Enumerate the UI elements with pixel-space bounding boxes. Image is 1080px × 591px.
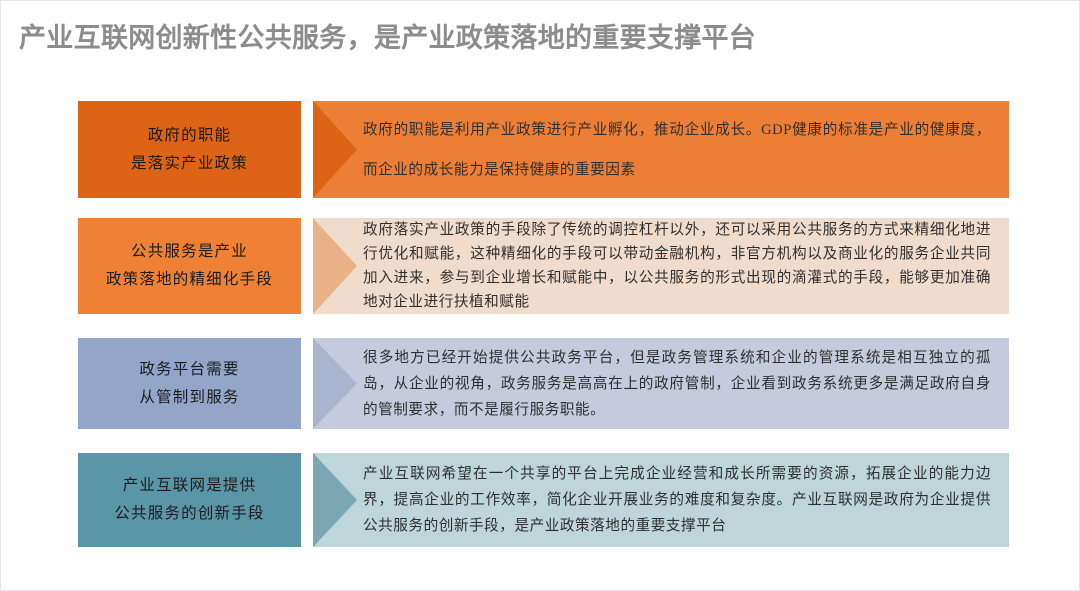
row-4-body: 产业互联网希望在一个共享的平台上完成企业经营和成长所需要的资源，拓展企业的能力边…: [363, 453, 991, 547]
process-row-1: 政府的职能 是落实产业政策 政府的职能是利用产业政策进行产业孵化，推动企业成长。…: [78, 101, 1009, 198]
row-3-body-text: 很多地方已经开始提供公共政务平台，但是政务管理系统和企业的管理系统是相互独立的孤…: [363, 345, 991, 423]
row-1-label: 政府的职能 是落实产业政策: [78, 101, 301, 198]
row-3-label: 政务平台需要 从管制到服务: [78, 338, 301, 429]
process-row-2: 公共服务是产业 政策落地的精细化手段 政府落实产业政策的手段除了传统的调控杠杆以…: [78, 218, 1009, 314]
row-1-arrow-icon: [313, 101, 357, 198]
arrow-triangle-shape: [313, 218, 357, 314]
row-2-label: 公共服务是产业 政策落地的精细化手段: [78, 218, 301, 314]
row-4-label: 产业互联网是提供 公共服务的创新手段: [78, 453, 301, 547]
process-row-4: 产业互联网是提供 公共服务的创新手段 产业互联网希望在一个共享的平台上完成企业经…: [78, 453, 1009, 547]
slide-canvas: 产业互联网创新性公共服务，是产业政策落地的重要支撑平台 政府的职能 是落实产业政…: [0, 0, 1080, 591]
row-3-label-line-2: 从管制到服务: [139, 384, 239, 412]
row-4-arrow-icon: [313, 453, 357, 547]
row-2-arrow-icon: [313, 218, 357, 314]
row-1-body: 政府的职能是利用产业政策进行产业孵化，推动企业成长。GDP健康的标准是产业的健康…: [363, 101, 991, 198]
row-2-label-line-1: 公共服务是产业: [106, 238, 273, 266]
row-4-body-text: 产业互联网希望在一个共享的平台上完成企业经营和成长所需要的资源，拓展企业的能力边…: [363, 461, 991, 539]
arrow-triangle-shape: [313, 101, 357, 198]
row-2-body-text: 政府落实产业政策的手段除了传统的调控杠杆以外，还可以采用公共服务的方式来精细化地…: [363, 218, 991, 314]
row-4-label-line-2: 公共服务的创新手段: [114, 500, 264, 528]
row-1-label-line-1: 政府的职能: [131, 122, 248, 150]
row-2-label-line-2: 政策落地的精细化手段: [106, 266, 273, 294]
row-1-label-line-2: 是落实产业政策: [131, 150, 248, 178]
row-2-body: 政府落实产业政策的手段除了传统的调控杠杆以外，还可以采用公共服务的方式来精细化地…: [363, 218, 991, 314]
row-1-body-text: 政府的职能是利用产业政策进行产业孵化，推动企业成长。GDP健康的标准是产业的健康…: [363, 110, 991, 190]
row-3-body: 很多地方已经开始提供公共政务平台，但是政务管理系统和企业的管理系统是相互独立的孤…: [363, 338, 991, 429]
row-4-label-line-1: 产业互联网是提供: [114, 472, 264, 500]
page-title: 产业互联网创新性公共服务，是产业政策落地的重要支撑平台: [19, 20, 756, 56]
arrow-triangle-shape: [313, 453, 357, 547]
arrow-triangle-shape: [313, 338, 357, 429]
process-row-3: 政务平台需要 从管制到服务 很多地方已经开始提供公共政务平台，但是政务管理系统和…: [78, 338, 1009, 429]
row-3-arrow-icon: [313, 338, 357, 429]
row-3-label-line-1: 政务平台需要: [139, 356, 239, 384]
